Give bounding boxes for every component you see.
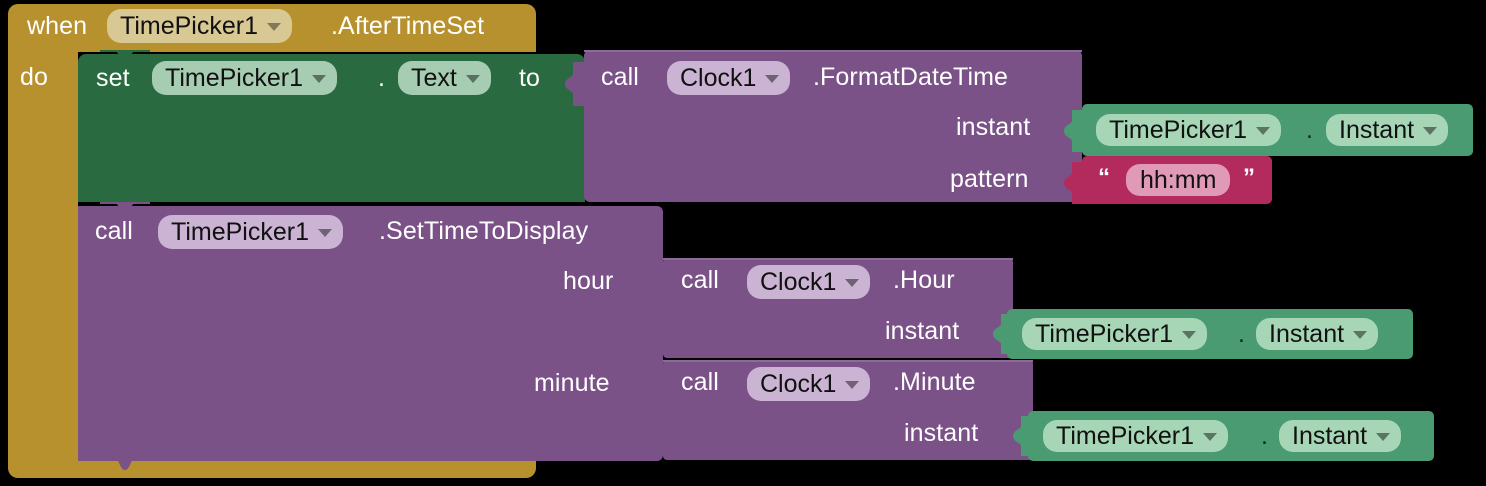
- chevron-down-icon: [1423, 127, 1437, 135]
- event-component-dropdown[interactable]: TimePicker1: [107, 9, 292, 43]
- call-hour-method-label: .Hour: [893, 268, 955, 293]
- set-component-label: TimePicker1: [165, 66, 303, 91]
- chevron-down-icon: [267, 23, 281, 31]
- set-property-dropdown[interactable]: Text: [398, 61, 491, 95]
- call-minute-top-edge: [663, 360, 1033, 362]
- set-component-dropdown[interactable]: TimePicker1: [152, 61, 337, 95]
- getter-2-component-label: TimePicker1: [1035, 322, 1173, 347]
- getter-3-property-label: Instant: [1292, 424, 1367, 449]
- call-formatdatetime-component-label: Clock1: [680, 66, 756, 91]
- call-settimetodisplay-component-label: TimePicker1: [171, 220, 309, 245]
- text-value-label: hh:mm: [1140, 168, 1216, 193]
- arg-hour-label: hour: [563, 269, 613, 294]
- call-hour-keyword: call: [681, 268, 719, 293]
- arg-instant-label-3: instant: [904, 421, 978, 446]
- text-value-field[interactable]: hh:mm: [1126, 164, 1230, 196]
- call-hour-component-dropdown[interactable]: Clock1: [747, 265, 870, 299]
- arg-instant-label-1: instant: [956, 115, 1030, 140]
- text-open-quote: “: [1098, 166, 1110, 190]
- chevron-down-icon: [312, 75, 326, 83]
- text-close-quote: ”: [1243, 166, 1255, 190]
- getter-1-component-label: TimePicker1: [1109, 118, 1247, 143]
- chevron-down-icon: [1256, 127, 1270, 135]
- chevron-down-icon: [466, 75, 480, 83]
- event-do-label: do: [20, 65, 48, 90]
- getter-1-property-dropdown[interactable]: Instant: [1326, 114, 1448, 146]
- arg-instant-label-2: instant: [885, 319, 959, 344]
- set-property-label: Text: [411, 66, 457, 91]
- call-settimetodisplay-method-label: .SetTimeToDisplay: [379, 219, 588, 244]
- event-name-label: .AfterTimeSet: [331, 14, 484, 39]
- chevron-down-icon: [1353, 331, 1367, 339]
- getter-3-component-label: TimePicker1: [1056, 424, 1194, 449]
- getter-2-component-dropdown[interactable]: TimePicker1: [1022, 318, 1207, 350]
- set-keyword-label: set: [96, 66, 130, 91]
- chevron-down-icon: [845, 279, 859, 287]
- arg-pattern-label: pattern: [950, 167, 1029, 192]
- chevron-down-icon: [318, 229, 332, 237]
- chevron-down-icon: [765, 75, 779, 83]
- arg-minute-label: minute: [534, 371, 610, 396]
- set-to-label: to: [519, 66, 540, 91]
- blocks-workspace[interactable]: when TimePicker1 .AfterTimeSet do set Ti…: [0, 0, 1486, 486]
- call-hour-component-label: Clock1: [760, 270, 836, 295]
- getter-1-property-label: Instant: [1339, 118, 1414, 143]
- call-settimetodisplay-component-dropdown[interactable]: TimePicker1: [158, 215, 343, 249]
- chevron-down-icon: [1376, 433, 1390, 441]
- call-minute-component-dropdown[interactable]: Clock1: [747, 367, 870, 401]
- call-formatdatetime-method-label: .FormatDateTime: [813, 65, 1008, 90]
- getter-2-property-dropdown[interactable]: Instant: [1256, 318, 1378, 350]
- chevron-down-icon: [845, 381, 859, 389]
- chevron-down-icon: [1182, 331, 1196, 339]
- getter-3-separator: .: [1261, 424, 1268, 449]
- event-component-label: TimePicker1: [120, 14, 258, 39]
- getter-2-property-label: Instant: [1269, 322, 1344, 347]
- call-formatdatetime-keyword: call: [601, 65, 639, 90]
- getter-1-component-dropdown[interactable]: TimePicker1: [1096, 114, 1281, 146]
- event-block-spine[interactable]: [8, 44, 78, 464]
- call-hour-top-edge: [663, 258, 1013, 260]
- call-formatdatetime-component-dropdown[interactable]: Clock1: [667, 61, 790, 95]
- call-minute-component-label: Clock1: [760, 372, 836, 397]
- getter-1-separator: .: [1306, 118, 1313, 143]
- call-formatdatetime-top-edge: [584, 50, 1082, 52]
- event-when-label: when: [27, 14, 87, 39]
- set-separator-label: .: [378, 66, 385, 91]
- chevron-down-icon: [1203, 433, 1217, 441]
- getter-2-separator: .: [1238, 322, 1245, 347]
- getter-3-property-dropdown[interactable]: Instant: [1279, 420, 1401, 452]
- call-settimetodisplay-keyword: call: [95, 219, 133, 244]
- call-minute-method-label: .Minute: [893, 370, 976, 395]
- call-minute-keyword: call: [681, 370, 719, 395]
- getter-3-component-dropdown[interactable]: TimePicker1: [1043, 420, 1228, 452]
